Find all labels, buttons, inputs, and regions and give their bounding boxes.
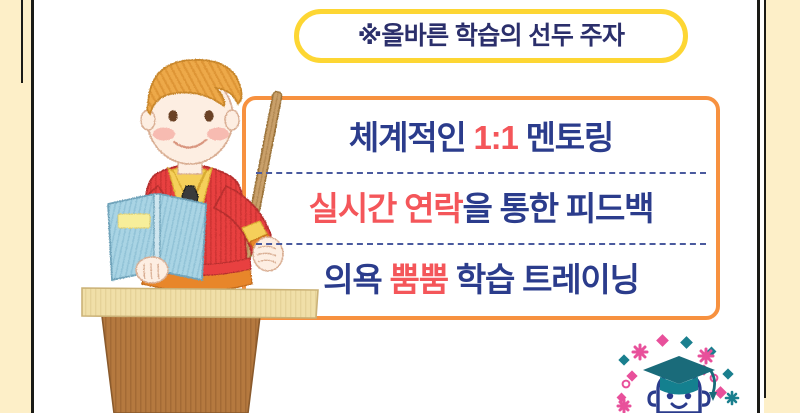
headline-segment: 1:1: [474, 119, 518, 156]
podium: [40, 282, 320, 413]
headline-line-2: 실시간 연락을 통한 피드백: [309, 192, 654, 225]
left-cream-band: [0, 0, 31, 413]
headline-row-3: 의욕 뿜뿜 학습 트레이닝: [252, 246, 710, 312]
headline-segment: 의욕: [323, 261, 389, 298]
left-hand: [136, 257, 168, 283]
headline-group: 체계적인 1:1 멘토링 실시간 연락을 통한 피드백 의욕 뿜뿜 학습 트레이…: [252, 104, 710, 312]
tagline-text: ※올바른 학습의 선두 주자: [358, 24, 625, 49]
right-inner-thin-rule: [764, 0, 766, 398]
tagline-badge: ※올바른 학습의 선두 주자: [294, 9, 688, 63]
headline-segment: 실시간 연락: [309, 190, 463, 227]
graduate-face: [643, 356, 717, 413]
teacher-head: [141, 60, 242, 164]
headline-segment: 체계적인: [349, 119, 474, 156]
left-vertical-rule: [31, 0, 34, 413]
right-cream-band: [764, 0, 800, 413]
headline-row-2: 실시간 연락을 통한 피드백: [252, 175, 710, 241]
headline-segment: 을 통한 피드백: [462, 190, 653, 227]
headline-segment: 멘토링: [518, 119, 613, 156]
headline-segment: 학습 트레이닝: [448, 261, 639, 298]
headline-segment: 뿜뿜: [390, 261, 448, 298]
headline-line-3: 의욕 뿜뿜 학습 트레이닝: [323, 263, 639, 296]
left-inner-thin-rule: [21, 0, 23, 83]
right-vertical-rule: [757, 0, 760, 413]
headline-row-1: 체계적인 1:1 멘토링: [252, 104, 710, 170]
graduate-character-mark: [604, 330, 754, 413]
headline-line-1: 체계적인 1:1 멘토링: [349, 121, 613, 154]
promo-banner: ※올바른 학습의 선두 주자: [0, 0, 800, 413]
